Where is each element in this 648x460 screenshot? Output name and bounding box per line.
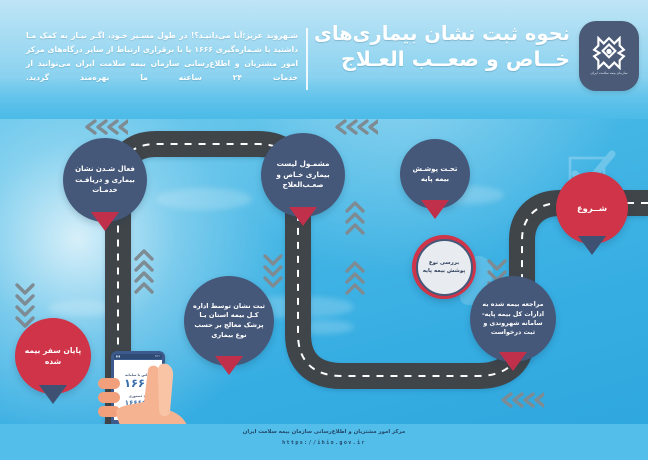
direction-chevrons xyxy=(498,391,544,409)
footer-organization: مرکز امور مشتریان و اطلاع‌رسانی سازمان ب… xyxy=(0,429,648,435)
sign-inner: بررسی نوع پوشش بیمه پایه xyxy=(416,239,473,296)
step-marker-mark-activated[interactable]: فعال شـدن نشان بیماری و دریافـت خدمـات xyxy=(63,138,147,222)
step-bubble: پایان سفر بیمه شده xyxy=(15,318,91,394)
step-label: فعال شـدن نشان بیماری و دریافـت خدمـات xyxy=(63,164,147,195)
step-bubble: فعال شـدن نشان بیماری و دریافـت خدمـات xyxy=(63,138,147,222)
step-label: شــروع xyxy=(570,202,614,214)
step-marker-check-basic-coverage[interactable]: بررسی نوع پوشش بیمه پایه xyxy=(412,235,476,299)
step-bubble: تحـت پوشـش بیمه پایه xyxy=(400,139,470,209)
step-label: بررسی نوع پوشش بیمه پایه xyxy=(418,259,471,275)
footer-url[interactable]: https://ihio.gov.ir xyxy=(0,440,648,446)
step-label: ثبت نشان توسط اداره کـل بیمه استان یـا پ… xyxy=(184,302,274,341)
direction-chevrons xyxy=(344,260,366,302)
step-bubble: مراجعه بیمه شده به ادارات کل بیمه پایه- … xyxy=(470,276,556,362)
step-marker-start[interactable]: شــروع xyxy=(556,172,628,244)
step-marker-on-special-disease-list[interactable]: مشمـول لیست بیماری خـاص و صعـب‌العلاج xyxy=(261,133,345,217)
direction-chevrons xyxy=(133,248,155,300)
step-bubble: مشمـول لیست بیماری خـاص و صعـب‌العلاج xyxy=(261,133,345,217)
step-label: تحـت پوشـش بیمه پایه xyxy=(400,164,470,184)
step-bubble: شــروع xyxy=(556,172,628,244)
infographic-canvas: سازمان بیمه سلامت ایران نحوه ثبت نشان بی… xyxy=(0,0,648,460)
step-marker-covered-by-basic-insurance[interactable]: تحـت پوشـش بیمه پایه xyxy=(400,139,470,209)
footer: مرکز امور مشتریان و اطلاع‌رسانی سازمان ب… xyxy=(0,424,648,460)
step-label: پایان سفر بیمه شده xyxy=(15,345,91,367)
direction-chevrons xyxy=(344,200,366,242)
step-marker-end-of-journey[interactable]: پایان سفر بیمه شده xyxy=(15,318,91,394)
step-marker-visit-insurance-office[interactable]: مراجعه بیمه شده به ادارات کل بیمه پایه- … xyxy=(470,276,556,362)
step-label: مشمـول لیست بیماری خـاص و صعـب‌العلاج xyxy=(261,159,345,191)
direction-chevrons xyxy=(82,118,128,136)
step-label: مراجعه بیمه شده به ادارات کل بیمه پایه- … xyxy=(470,300,556,337)
